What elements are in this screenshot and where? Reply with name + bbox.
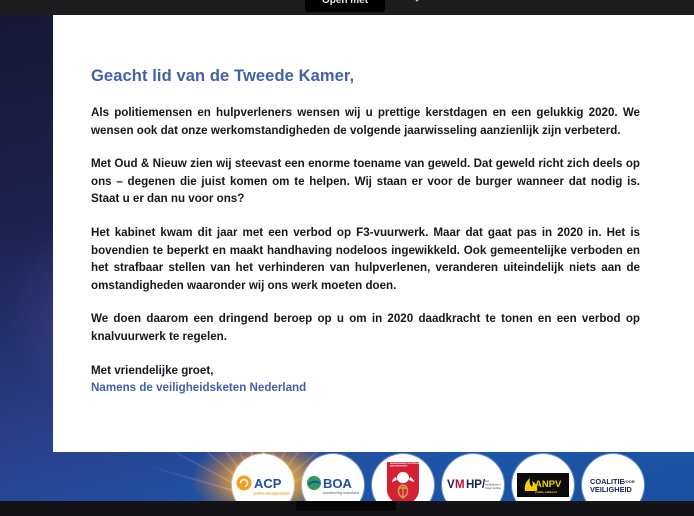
letter-closing: Met vriendelijke groet, bbox=[91, 362, 640, 380]
viewer-bottom-bar bbox=[0, 501, 694, 516]
svg-text:HP/: HP/ bbox=[466, 479, 486, 491]
logo-strip: ACP politievakorganisatie BOA handhaving… bbox=[232, 447, 652, 501]
svg-text:VOOR: VOOR bbox=[623, 479, 635, 484]
svg-text:handhaving nederland: handhaving nederland bbox=[323, 491, 359, 495]
letter-paragraph-4: We doen daarom een dringend beroep op u … bbox=[91, 310, 640, 345]
letter-greeting: Geacht lid van de Tweede Kamer, bbox=[91, 67, 640, 86]
svg-text:ACP: ACP bbox=[254, 476, 282, 491]
open-with-button[interactable]: Open met bbox=[305, 0, 385, 12]
letter-paragraph-3: Het kabinet kwam dit jaar met een verbod… bbox=[91, 224, 640, 294]
viewer-bottom-nub bbox=[296, 501, 396, 511]
boa-logo: BOA handhaving nederland bbox=[302, 454, 364, 501]
svg-text:M: M bbox=[455, 479, 465, 491]
coalitie-voor-veiligheid-logo: COALITIE VOOR VEILIGHEID bbox=[582, 454, 644, 501]
vmhp-logo: V M HP/ het middelbaar en hoger politiep… bbox=[442, 454, 504, 501]
svg-text:V: V bbox=[447, 479, 455, 491]
svg-text:het: het bbox=[485, 479, 489, 483]
letter-sheet: Geacht lid van de Tweede Kamer, Als poli… bbox=[53, 15, 694, 452]
screenshot-root: Open met Geacht lid van de Tweede Kamer, bbox=[0, 0, 694, 516]
svg-text:middelbaar en: middelbaar en bbox=[485, 483, 501, 487]
svg-text:BOA: BOA bbox=[323, 476, 353, 491]
letter-paragraph-2: Met Oud & Nieuw zien wij steevast een en… bbox=[91, 155, 640, 208]
chevron-down-icon[interactable] bbox=[412, 0, 422, 2]
anpv-logo: ANPV politie vakbond bbox=[512, 454, 574, 501]
svg-text:politievakorganisatie: politievakorganisatie bbox=[254, 492, 290, 496]
viewer-toolbar: Open met bbox=[0, 0, 694, 15]
svg-text:politie vakbond: politie vakbond bbox=[535, 490, 557, 494]
poster-background: Geacht lid van de Tweede Kamer, Als poli… bbox=[0, 15, 694, 501]
svg-text:VAKVERENIGING: VAKVERENIGING bbox=[390, 465, 408, 468]
svg-text:VEILIGHEID: VEILIGHEID bbox=[590, 485, 633, 494]
politiebond-logo: NEDERLANDSE POLITIEBOND VAKVERENIGING bbox=[372, 454, 434, 501]
letter-paragraph-1: Als politiemensen en hulpverleners wense… bbox=[91, 104, 640, 139]
letter-signature: Namens de veiligheidsketen Nederland bbox=[91, 379, 640, 397]
svg-text:hoger politiepersoneel: hoger politiepersoneel bbox=[485, 486, 501, 490]
svg-text:ANPV: ANPV bbox=[535, 479, 562, 490]
acp-logo: ACP politievakorganisatie bbox=[232, 454, 294, 501]
